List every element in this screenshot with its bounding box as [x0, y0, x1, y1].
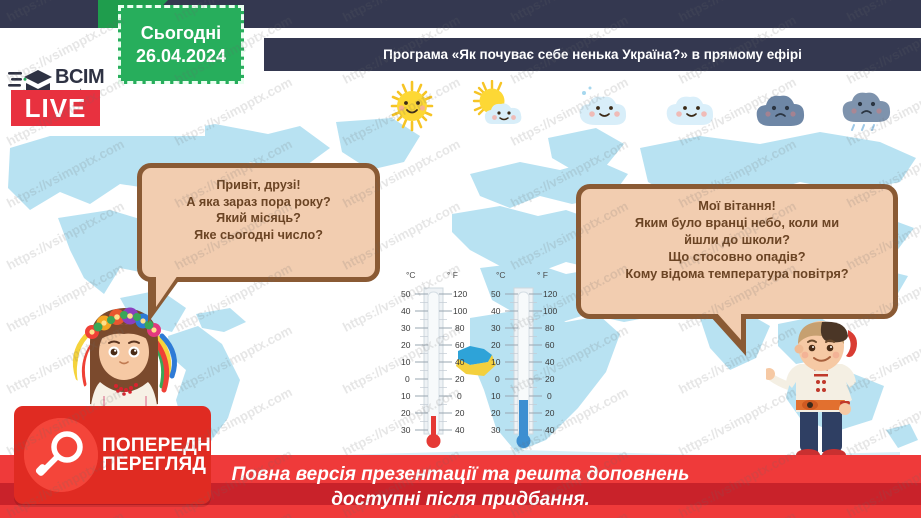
preview-button-line-1: ПОПЕРЕДНІЙ [102, 436, 230, 455]
svg-text:120: 120 [543, 289, 557, 299]
bubble-left-line-1: Привіт, друзі! [216, 178, 300, 192]
date-badge: Сьогодні 26.04.2024 [118, 5, 244, 84]
svg-text:20: 20 [455, 408, 465, 418]
svg-text:20: 20 [491, 340, 501, 350]
speech-bubble-right: Мої вітання! Яким було вранці небо, коли… [576, 184, 898, 319]
svg-text:10: 10 [401, 391, 411, 401]
svg-text:80: 80 [545, 323, 555, 333]
svg-text:120: 120 [453, 289, 467, 299]
svg-text:20: 20 [545, 408, 555, 418]
preview-button[interactable]: ПОПЕРЕДНІЙ ПЕРЕГЛЯД [14, 406, 211, 504]
svg-text:40: 40 [491, 306, 501, 316]
speech-bubble-right-tail-inner [716, 312, 741, 340]
sun-behind-cloud-icon [458, 80, 550, 132]
cloud-icon-2 [642, 80, 734, 132]
svg-text:0: 0 [547, 391, 552, 401]
svg-text:60: 60 [545, 340, 555, 350]
svg-text:20: 20 [401, 408, 411, 418]
thermo1-unit-c: °C [406, 270, 416, 280]
date-badge-value: 26.04.2024 [136, 47, 226, 66]
dark-cloud-icon [734, 80, 826, 132]
svg-text:40: 40 [545, 357, 555, 367]
bubble-right-line-2: Яким було вранці небо, коли ми [635, 215, 839, 230]
svg-text:30: 30 [401, 425, 411, 435]
bubble-left-line-3: Який місяць? [216, 211, 301, 225]
speech-bubble-left-tail-inner [156, 275, 178, 307]
svg-text:100: 100 [543, 306, 557, 316]
thermo1-unit-f: ° F [447, 270, 458, 280]
thermometer-celsius-left: °C ° F [398, 266, 470, 457]
svg-text:0: 0 [405, 374, 410, 384]
svg-text:10: 10 [491, 391, 501, 401]
date-badge-label: Сьогодні [141, 24, 221, 43]
svg-text:40: 40 [455, 357, 465, 367]
svg-text:50: 50 [401, 289, 411, 299]
svg-text:50: 50 [491, 289, 501, 299]
svg-text:40: 40 [401, 306, 411, 316]
svg-text:100: 100 [453, 306, 467, 316]
svg-text:20: 20 [455, 374, 465, 384]
bubble-right-line-5: Кому відома температура повітря? [625, 266, 848, 281]
live-badge: LIVE [11, 90, 100, 126]
logo-wordmark: BCIM [55, 67, 104, 87]
svg-text:30: 30 [401, 323, 411, 333]
thermometer-celsius-right: °C ° F [488, 266, 560, 457]
bubble-right-line-4: Що стосовно опадів? [668, 249, 805, 264]
svg-text:30: 30 [491, 323, 501, 333]
bubble-right-line-1: Мої вітання! [698, 198, 776, 213]
magnifier-icon [24, 418, 98, 492]
svg-text:20: 20 [401, 340, 411, 350]
preview-button-line-2: ПЕРЕГЛЯД [102, 455, 230, 474]
program-title-bar: Програма «Як почуває себе ненька Україна… [264, 38, 921, 71]
thermo2-unit-c: °C [496, 270, 506, 280]
bubble-left-line-4: Яке сьогодні число? [194, 228, 323, 242]
svg-text:20: 20 [491, 408, 501, 418]
bubble-left-line-2: А яка зараз пора року? [186, 195, 330, 209]
svg-text:0: 0 [495, 374, 500, 384]
footer-line-2: доступні після придбання. [331, 488, 590, 512]
slide-canvas: BCIM pptx LIVE Сьогодні 26.04.2024 Прогр… [0, 0, 921, 518]
bubble-right-line-3: йшли до школи? [684, 232, 790, 247]
bubble-left-text: Привіт, друзі! А яка зараз пора року? Як… [142, 168, 375, 243]
svg-text:80: 80 [455, 323, 465, 333]
speech-bubble-left: Привіт, друзі! А яка зараз пора року? Як… [137, 163, 380, 282]
bubble-right-text: Мої вітання! Яким було вранці небо, коли… [581, 189, 893, 282]
svg-text:10: 10 [401, 357, 411, 367]
program-title: Програма «Як почуває себе ненька Україна… [383, 47, 802, 62]
svg-text:60: 60 [455, 340, 465, 350]
footer-line-1: Повна версія презентації та решта доповн… [232, 463, 690, 487]
thermo2-unit-f: ° F [537, 270, 548, 280]
weather-icon-row [366, 80, 921, 132]
svg-text:30: 30 [491, 425, 501, 435]
live-badge-label: LIVE [25, 93, 87, 124]
svg-text:40: 40 [455, 425, 465, 435]
svg-text:10: 10 [491, 357, 501, 367]
boy-character [766, 316, 878, 469]
svg-text:20: 20 [545, 374, 555, 384]
cloud-icon [550, 80, 642, 132]
svg-text:40: 40 [545, 425, 555, 435]
sun-icon [366, 80, 458, 132]
svg-text:0: 0 [457, 391, 462, 401]
rain-cloud-icon [826, 80, 918, 132]
